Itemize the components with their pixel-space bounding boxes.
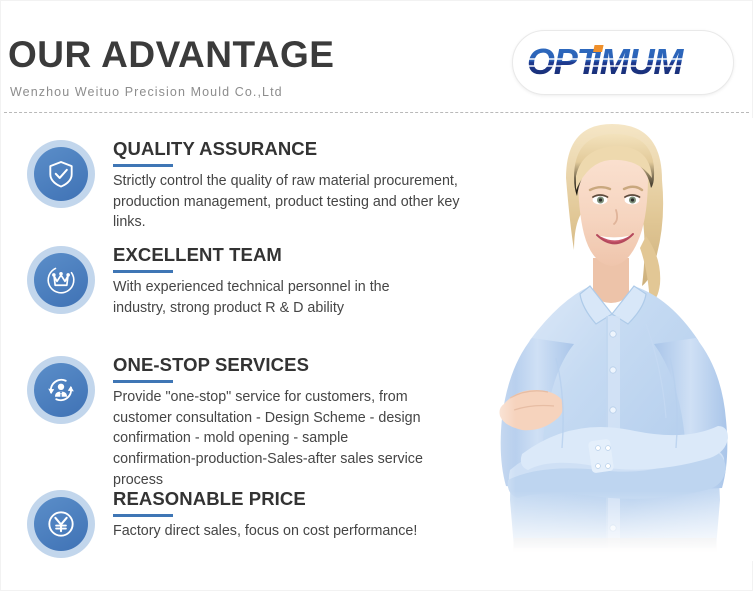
feature-title-3: ONE-STOP SERVICES <box>113 354 481 375</box>
feature-desc-2: With experienced technical personnel in … <box>113 277 481 318</box>
yen-coin-icon <box>45 508 77 540</box>
feature-icon-ring-1 <box>27 140 95 208</box>
feature-desc-3: Provide "one-stop" service for customers… <box>113 387 481 490</box>
feature-underline-3 <box>113 380 173 383</box>
feature-icon-disc-2 <box>34 253 88 307</box>
feature-body-1: QUALITY ASSURANCE Strictly control the q… <box>113 138 481 233</box>
service-person-cycle-icon <box>45 374 77 406</box>
logo-wrap: OPT IMUM <box>513 31 733 94</box>
feature-icon-ring-3 <box>27 356 95 424</box>
feature-underline-4 <box>113 514 173 517</box>
feature-icon-disc-3 <box>34 363 88 417</box>
page-title: OUR ADVANTAGE <box>8 36 334 73</box>
crown-icon <box>45 264 77 296</box>
header: OUR ADVANTAGE Wenzhou Weituo Precision M… <box>0 0 753 112</box>
feature-title-1: QUALITY ASSURANCE <box>113 138 481 159</box>
feature-icon-disc-1 <box>34 147 88 201</box>
feature-underline-2 <box>113 270 173 273</box>
feature-title-4: REASONABLE PRICE <box>113 488 481 509</box>
businesswoman-photo <box>470 118 753 561</box>
logo-orange-dot <box>593 45 603 52</box>
feature-underline-1 <box>113 164 173 167</box>
our-advantage-banner: OUR ADVANTAGE Wenzhou Weituo Precision M… <box>0 0 753 591</box>
shield-check-icon <box>46 159 76 189</box>
feature-icon-ring-4 <box>27 490 95 558</box>
feature-body-4: REASONABLE PRICE Factory direct sales, f… <box>113 488 481 542</box>
company-name: Wenzhou Weituo Precision Mould Co.,Ltd <box>10 86 283 99</box>
feature-title-2: EXCELLENT TEAM <box>113 244 481 265</box>
feature-icon-ring-2 <box>27 246 95 314</box>
header-divider <box>4 112 749 113</box>
photo-fade-bottom <box>470 491 753 561</box>
logo-badge: OPT IMUM <box>512 30 734 95</box>
optimum-logo-icon: OPT IMUM <box>525 43 721 83</box>
svg-text:IMUM: IMUM <box>591 43 684 82</box>
feature-desc-4: Factory direct sales, focus on cost perf… <box>113 521 481 542</box>
feature-body-2: EXCELLENT TEAM With experienced technica… <box>113 244 481 318</box>
feature-icon-disc-4 <box>34 497 88 551</box>
feature-body-3: ONE-STOP SERVICES Provide "one-stop" ser… <box>113 354 481 490</box>
feature-desc-1: Strictly control the quality of raw mate… <box>113 171 481 233</box>
